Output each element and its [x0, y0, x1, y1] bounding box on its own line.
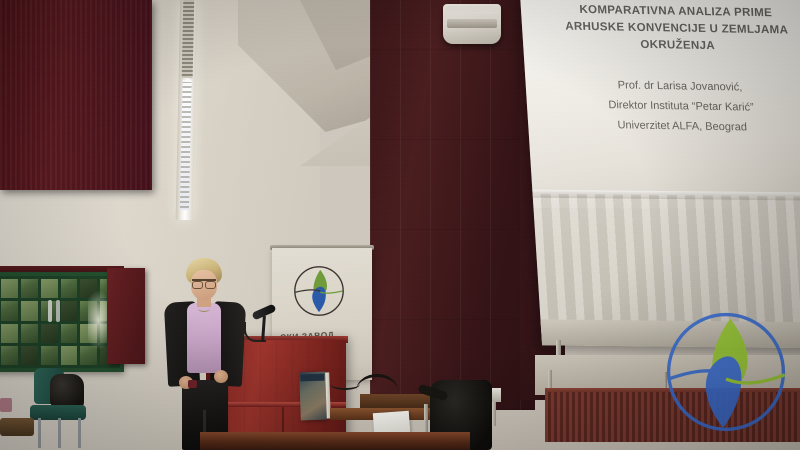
front-table	[200, 432, 470, 450]
slide-content: KOMPARATIVNA ANALIZA PRIME ARHUSKE KONVE…	[537, 1, 800, 139]
wood-panel-center	[370, 0, 535, 410]
light-grill-lower	[180, 82, 192, 208]
presenter-necklace	[198, 305, 210, 312]
glasses-icon	[192, 279, 216, 287]
chair-leg	[58, 418, 61, 448]
air-conditioner-body	[445, 6, 499, 14]
wall-radiator	[545, 392, 800, 442]
air-conditioner-icon	[443, 4, 501, 44]
leaf-and-droplet-logo	[288, 260, 350, 322]
presenter-hand-right	[214, 370, 228, 383]
light-grill-upper	[182, 0, 195, 78]
window-handle-left[interactable]	[48, 300, 52, 322]
journal-booklet	[299, 372, 327, 421]
projection-screen: KOMPARATIVNA ANALIZA PRIME ARHUSKE KONVE…	[520, 0, 800, 348]
presenter-blouse	[187, 303, 221, 373]
wall-socket[interactable]	[492, 388, 501, 402]
booklet-title-band	[300, 374, 324, 382]
pink-object	[0, 398, 12, 412]
air-conditioner-vent	[447, 19, 497, 28]
chair-leg	[38, 418, 41, 448]
wood-panel-upper-left	[0, 0, 152, 190]
side-table	[0, 418, 34, 436]
presenter-held-object	[188, 380, 197, 388]
screen-bottom-weight-bar	[540, 319, 800, 348]
window-handle-right[interactable]	[56, 300, 60, 322]
cable-secondary	[330, 378, 360, 390]
wall-socket-cable	[492, 402, 496, 426]
window-shutter[interactable]	[107, 268, 145, 364]
presentation-photo: СКИ ЗАВОД KOMPARATIVNA ANALIZA PRIME ARH…	[0, 0, 800, 450]
chair-leg	[78, 418, 81, 448]
presenter	[152, 258, 256, 450]
